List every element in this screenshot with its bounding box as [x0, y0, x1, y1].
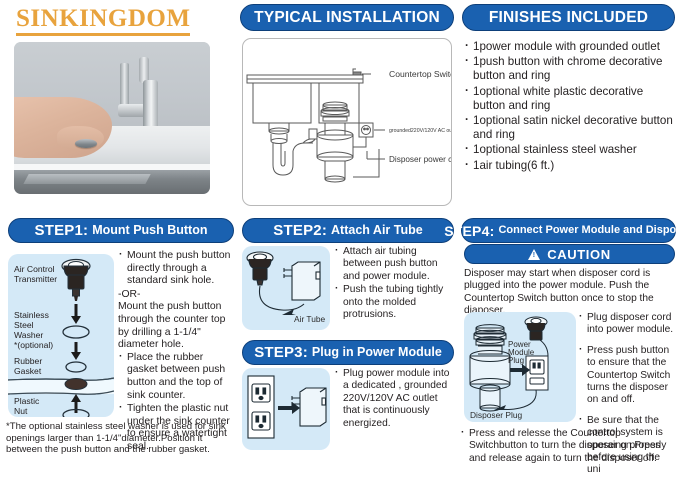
- list-item: Mount the push button directly through a…: [118, 250, 234, 288]
- step4-title: Connect Power Module and Disposer: [498, 225, 679, 236]
- list-item: 1optional satin nickel decorative button…: [464, 114, 677, 142]
- list-item: Attach air tubing between push button an…: [334, 246, 452, 283]
- step1-or: -OR-: [118, 289, 234, 302]
- list-item: Plug power module into a dedicated , gro…: [334, 368, 452, 430]
- warning-triangle-icon: [528, 249, 540, 260]
- step2-figure-label: Air Tube: [294, 314, 326, 324]
- step4-label-power-module-plug-line3: Plug: [508, 356, 524, 365]
- step3-header: STEP3: Plug in Power Module: [242, 340, 454, 365]
- list-item: 1air tubing(6 ft.): [464, 159, 677, 173]
- faucet-arm: [120, 63, 129, 109]
- step2-header: STEP2: Attach Air Tube: [242, 218, 454, 243]
- installation-diagram: Countertop Switch grounded220V/120V AC o…: [243, 39, 451, 205]
- caution-header: CAUTION: [464, 244, 675, 264]
- caution-label: CAUTION: [547, 247, 610, 262]
- installation-label-power-cord: Disposer power cord: [389, 155, 451, 164]
- product-photo: [14, 42, 210, 194]
- step3-title: Plug in Power Module: [312, 346, 442, 359]
- list-item: 1optional stainless steel washer: [464, 143, 677, 157]
- step1-alt-instruction: Mount the push button through the counte…: [118, 301, 234, 351]
- list-item: Push the tubing tightly onto the molded …: [334, 284, 452, 321]
- step2-instructions: Attach air tubing between push button an…: [334, 246, 452, 322]
- list-item: Press push button to ensure that the Cou…: [578, 345, 676, 407]
- step3-number: STEP3:: [254, 345, 308, 360]
- step1-title: Mount Push Button: [92, 224, 207, 237]
- step2-figure: Air Tube: [242, 246, 330, 330]
- caution-text: Disposer may start when disposer cord is…: [464, 268, 677, 318]
- right-column: FINISHES INCLUDED 1power module with gro…: [458, 0, 679, 463]
- step3-outlet-diagram: [242, 368, 330, 450]
- list-item: 1push button with chrome decorative butt…: [464, 55, 677, 83]
- step4-bottom-note: Press and relesse the Countertop Switchb…: [460, 428, 676, 466]
- list-item: Press and relesse the Countertop Switchb…: [460, 428, 676, 465]
- step1-label-transmitter: Air Control Transmitter: [14, 264, 70, 284]
- brand-name: SINKINGDOM: [16, 6, 190, 31]
- list-item: 1power module with grounded outlet: [464, 40, 677, 54]
- step2-number: STEP2:: [273, 223, 327, 238]
- step1-header: STEP1: Mount Push Button: [8, 218, 234, 243]
- installation-label-outlet: grounded220V/120V AC outlet: [389, 128, 451, 134]
- list-item: Plug disposer cord into power module.: [578, 312, 676, 337]
- step1-label-gasket: Rubber Gasket: [14, 356, 70, 376]
- step1-number: STEP1:: [35, 223, 89, 238]
- step2-air-tube-diagram: Air Tube: [242, 246, 330, 330]
- step3-figure: [242, 368, 330, 450]
- typical-installation-header: TYPICAL INSTALLATION: [240, 4, 454, 31]
- step1-footnote: *The optional stainless steel washer is …: [6, 421, 234, 456]
- step1-label-nut: Plastic Nut: [14, 396, 70, 416]
- middle-column: TYPICAL INSTALLATION: [236, 0, 458, 463]
- left-column: SINKINGDOM STEP1: Mount Push Button: [0, 0, 236, 463]
- brand-logo: SINKINGDOM: [16, 6, 190, 36]
- step2-title: Attach Air Tube: [331, 224, 423, 237]
- step4-number: STEP4:: [444, 224, 494, 238]
- installation-label-countertop-switch: Countertop Switch: [389, 69, 451, 79]
- photo-sink: [14, 170, 210, 194]
- step4-disposer-diagram: Power Module Plug Disposer Plug: [464, 312, 576, 422]
- finishes-included-header: FINISHES INCLUDED: [462, 4, 675, 31]
- list-item: Place the rubber gasket between push but…: [118, 352, 234, 402]
- step4-header: STEP4: Connect Power Module and Disposer: [461, 218, 676, 243]
- logo-underline: [16, 33, 190, 36]
- step4-figure: Power Module Plug Disposer Plug: [464, 312, 576, 422]
- step3-instructions: Plug power module into a dedicated , gro…: [334, 368, 452, 431]
- installation-diagram-card: Countertop Switch grounded220V/120V AC o…: [242, 38, 452, 206]
- finishes-list: 1power module with grounded outlet 1push…: [464, 40, 677, 174]
- step1-label-washer: Stainless Steel Washer *(optional): [14, 310, 70, 350]
- step4-label-disposer-plug: Disposer Plug: [470, 410, 522, 420]
- step1-bullets-first: Mount the push button directly through a…: [118, 250, 234, 288]
- list-item: 1optional white plastic decorative butto…: [464, 85, 677, 113]
